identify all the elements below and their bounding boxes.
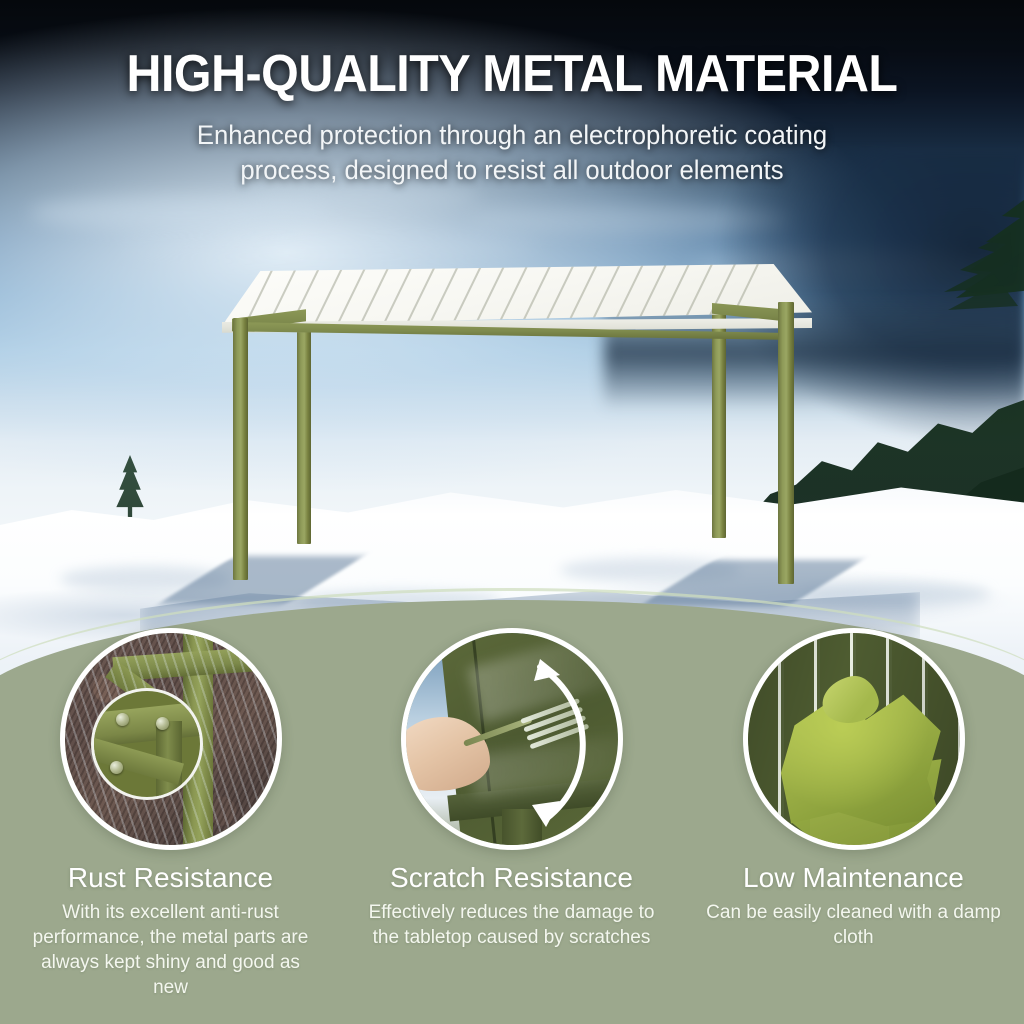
feature-scratch-resistance: Scratch Resistance Effectively reduces t… — [341, 628, 682, 950]
page-subtitle-line-1: Enhanced protection through an electroph… — [26, 118, 999, 153]
table-leg-front-left — [233, 318, 248, 580]
product-infographic: HIGH-QUALITY METAL MATERIAL Enhanced pro… — [0, 0, 1024, 1024]
feature-title: Rust Resistance — [0, 862, 341, 894]
table-leg-front-right — [778, 302, 794, 584]
table-leg-back-left — [297, 312, 311, 544]
feature-list: Rust Resistance With its excellent anti-… — [0, 628, 1024, 1024]
feature-description: Effectively reduces the damage to the ta… — [341, 900, 682, 950]
page-subtitle-line-2: process, designed to resist all outdoor … — [26, 153, 999, 188]
feature-image-low-maintenance — [743, 628, 965, 850]
feature-image-scratch-resistance — [401, 628, 623, 850]
feature-title: Low Maintenance — [683, 862, 1024, 894]
bolt-icon — [156, 717, 169, 730]
table-top-slat-line — [148, 264, 184, 335]
feature-rust-resistance: Rust Resistance With its excellent anti-… — [0, 628, 341, 1000]
header: HIGH-QUALITY METAL MATERIAL Enhanced pro… — [0, 0, 1024, 188]
table-top-slat-line — [171, 264, 207, 335]
feature-description: With its excellent anti-rust performance… — [0, 900, 341, 1000]
page-title: HIGH-QUALITY METAL MATERIAL — [36, 48, 988, 100]
page-subtitle: Enhanced protection through an electroph… — [26, 118, 999, 188]
feature-description: Can be easily cleaned with a damp cloth — [683, 900, 1024, 950]
magnifier-inset — [91, 688, 203, 800]
joint-plate — [91, 701, 203, 748]
feature-image-rust-resistance — [60, 628, 282, 850]
table-leg-back-right — [712, 312, 726, 538]
feature-title: Scratch Resistance — [341, 862, 682, 894]
double-arrow-icon — [522, 641, 614, 841]
bolt-icon — [110, 761, 123, 774]
feature-low-maintenance: Low Maintenance Can be easily cleaned wi… — [683, 628, 1024, 950]
bolt-icon — [116, 713, 129, 726]
